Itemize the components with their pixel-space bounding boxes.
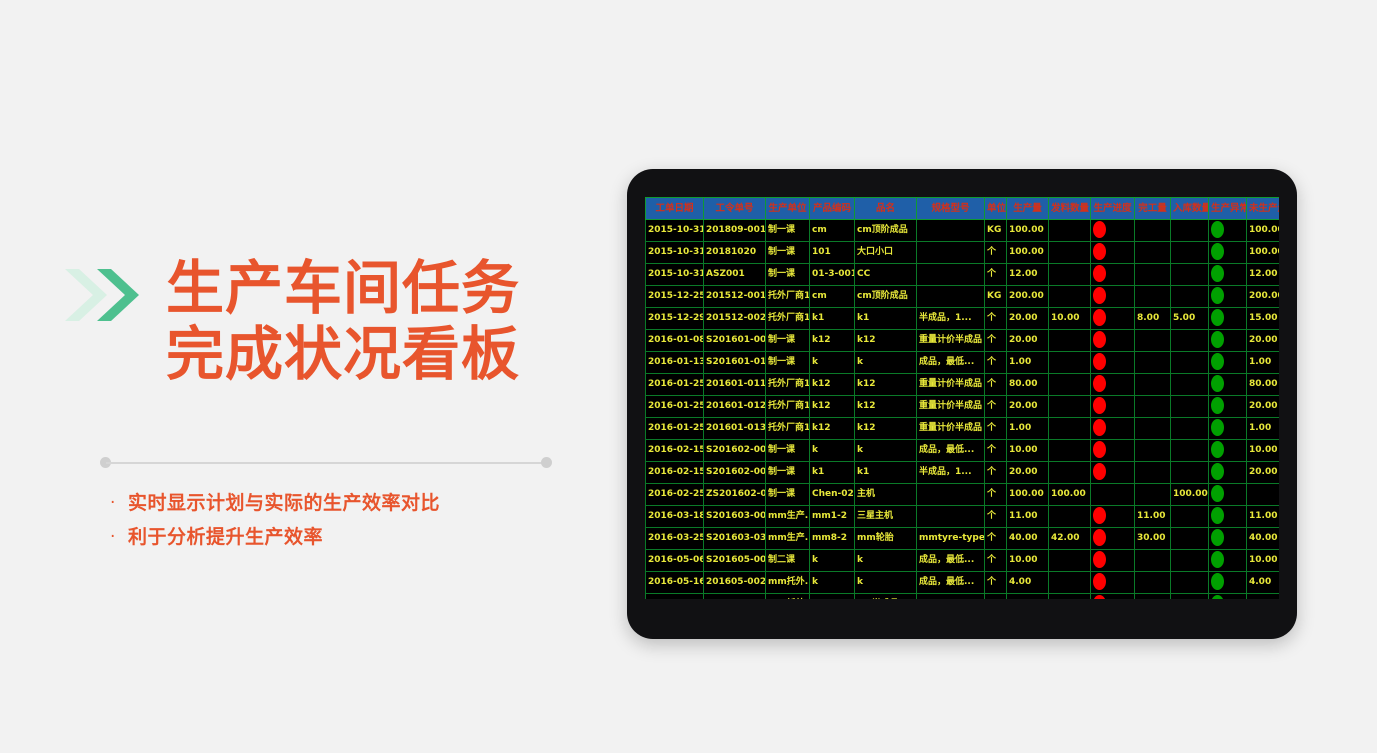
- abnormal-green-indicator-icon: [1211, 331, 1224, 348]
- cell-unit: 托外厂商1: [766, 396, 810, 418]
- cell-material: 100.00: [1049, 484, 1091, 506]
- cell-code: k12: [810, 396, 855, 418]
- table-row[interactable]: 2015-12-25201512-001托外厂商1cmcm顶阶成品KG200.0…: [646, 286, 1280, 308]
- table-row[interactable]: 2016-02-15S201602-007制一课k1k1半成品，1...个20.…: [646, 462, 1280, 484]
- progress-red-indicator-icon: [1093, 529, 1106, 546]
- abnormal-green-indicator-icon: [1211, 265, 1224, 282]
- table-row[interactable]: 2016-01-13S201601-011制一课kk成品，最低...个1.001…: [646, 352, 1280, 374]
- cell-material: [1049, 594, 1091, 600]
- cell-spec: 重量计价半成品: [917, 396, 985, 418]
- cell-order: S201603-037: [704, 528, 766, 550]
- column-header-2[interactable]: 生产单位: [766, 198, 810, 220]
- cell-unmade: 1.00: [1247, 352, 1280, 374]
- cell-date: 2016-01-25: [646, 396, 704, 418]
- cell-stock: [1171, 264, 1209, 286]
- table-row[interactable]: 2016-03-18S201603-006mm生产...mm1-2三星主机个11…: [646, 506, 1280, 528]
- abnormal-green-indicator-icon: [1211, 551, 1224, 568]
- cell-unit: mm生产...: [766, 506, 810, 528]
- cell-abnormal: [1209, 594, 1247, 600]
- table-row[interactable]: 2016-01-25201601-011托外厂商1k12k12重量计价半成品个8…: [646, 374, 1280, 396]
- bullet-marker-icon: ·: [110, 490, 128, 516]
- cell-uom: 个: [985, 308, 1007, 330]
- cell-material: [1049, 242, 1091, 264]
- table-row[interactable]: 2016-01-08S201601-008制一课k12k12重量计价半成品个20…: [646, 330, 1280, 352]
- cell-abnormal: [1209, 242, 1247, 264]
- cell-uom: 个: [985, 462, 1007, 484]
- cell-name: 三星主机: [855, 506, 917, 528]
- column-header-3[interactable]: 产品编码: [810, 198, 855, 220]
- cell-material: [1049, 506, 1091, 528]
- cell-uom: 个: [985, 528, 1007, 550]
- cell-abnormal: [1209, 308, 1247, 330]
- table-row[interactable]: 2016-02-25ZS201602-004制一课Chen-02主机个100.0…: [646, 484, 1280, 506]
- cell-qty: 12.00: [1007, 264, 1049, 286]
- progress-red-indicator-icon: [1093, 287, 1106, 304]
- cell-name: CC: [855, 264, 917, 286]
- cell-uom: 个: [985, 264, 1007, 286]
- abnormal-green-indicator-icon: [1211, 441, 1224, 458]
- cell-order: 201601-012: [704, 396, 766, 418]
- cell-order: S201602-007: [704, 462, 766, 484]
- production-task-table: 工单日期工令单号生产单位产品编码品名规格型号单位生产量发料数量生产进度完工量入库…: [645, 197, 1279, 599]
- cell-spec: [917, 506, 985, 528]
- cell-done: [1135, 484, 1171, 506]
- progress-red-indicator-icon: [1093, 397, 1106, 414]
- cell-qty: 80.00: [1007, 374, 1049, 396]
- cell-done: [1135, 594, 1171, 600]
- cell-abnormal: [1209, 528, 1247, 550]
- cell-abnormal: [1209, 418, 1247, 440]
- cell-material: [1049, 462, 1091, 484]
- abnormal-green-indicator-icon: [1211, 463, 1224, 480]
- cell-spec: [917, 484, 985, 506]
- cell-progress: [1091, 396, 1135, 418]
- cell-name: cm顶阶成品: [855, 286, 917, 308]
- cell-name: k1: [855, 308, 917, 330]
- cell-uom: 个: [985, 572, 1007, 594]
- bullet-text: 利于分析提升生产效率: [128, 524, 323, 550]
- cell-date: 2015-10-31: [646, 242, 704, 264]
- progress-red-indicator-icon: [1093, 221, 1106, 238]
- cell-spec: 成品，最低...: [917, 550, 985, 572]
- cell-stock: [1171, 242, 1209, 264]
- cell-done: [1135, 418, 1171, 440]
- cell-done: [1135, 374, 1171, 396]
- column-header-12[interactable]: 生产异常: [1209, 198, 1247, 220]
- cell-code: 101: [810, 242, 855, 264]
- cell-order: S201602-006: [704, 440, 766, 462]
- cell-stock: [1171, 594, 1209, 600]
- cell-spec: 重量计价半成品: [917, 374, 985, 396]
- cell-material: [1049, 440, 1091, 462]
- cell-date: 2015-12-25: [646, 286, 704, 308]
- cell-material: [1049, 352, 1091, 374]
- abnormal-green-indicator-icon: [1211, 309, 1224, 326]
- cell-qty: 20.00: [1007, 308, 1049, 330]
- table-row[interactable]: 2015-10-31201809-001制一课cmcm顶阶成品KG100.001…: [646, 220, 1280, 242]
- cell-code: k1: [810, 462, 855, 484]
- cell-progress: [1091, 462, 1135, 484]
- cell-progress: [1091, 264, 1135, 286]
- cell-unmade: 20.00: [1247, 396, 1280, 418]
- cell-progress: [1091, 440, 1135, 462]
- cell-qty: 20.00: [1007, 396, 1049, 418]
- cell-done: 11.00: [1135, 506, 1171, 528]
- abnormal-green-indicator-icon: [1211, 573, 1224, 590]
- cell-code: mm1-2: [810, 506, 855, 528]
- cell-name: mm轮胎: [855, 528, 917, 550]
- cell-uom: KG: [985, 594, 1007, 600]
- cell-uom: KG: [985, 220, 1007, 242]
- column-header-1[interactable]: 工令单号: [704, 198, 766, 220]
- cell-stock: [1171, 286, 1209, 308]
- cell-qty: 20.00: [1007, 462, 1049, 484]
- cell-done: [1135, 242, 1171, 264]
- tablet-screen: 工单日期工令单号生产单位产品编码品名规格型号单位生产量发料数量生产进度完工量入库…: [645, 197, 1279, 599]
- column-header-10[interactable]: 完工量: [1135, 198, 1171, 220]
- cell-order: 201601-011: [704, 374, 766, 396]
- cell-spec: 半成品，1...: [917, 308, 985, 330]
- progress-red-indicator-icon: [1093, 419, 1106, 436]
- progress-red-indicator-icon: [1093, 441, 1106, 458]
- cell-unit: 制一课: [766, 462, 810, 484]
- cell-progress: [1091, 286, 1135, 308]
- cell-date: 2016-01-13: [646, 352, 704, 374]
- cell-date: 2016-02-25: [646, 484, 704, 506]
- cell-stock: [1171, 550, 1209, 572]
- cell-stock: [1171, 506, 1209, 528]
- cell-spec: [917, 286, 985, 308]
- cell-name: k: [855, 440, 917, 462]
- cell-done: 30.00: [1135, 528, 1171, 550]
- cell-unit: mm托外...: [766, 572, 810, 594]
- cell-done: [1135, 462, 1171, 484]
- double-chevron-icon: [63, 266, 155, 324]
- cell-stock: 5.00: [1171, 308, 1209, 330]
- cell-code: 01-3-001: [810, 264, 855, 286]
- column-header-9[interactable]: 生产进度: [1091, 198, 1135, 220]
- cell-qty: 200.00: [1007, 286, 1049, 308]
- cell-unmade: 80.00: [1247, 374, 1280, 396]
- tablet-device-frame: 工单日期工令单号生产单位产品编码品名规格型号单位生产量发料数量生产进度完工量入库…: [627, 169, 1297, 639]
- cell-qty: 10.00: [1007, 440, 1049, 462]
- abnormal-green-indicator-icon: [1211, 397, 1224, 414]
- cell-abnormal: [1209, 550, 1247, 572]
- cell-qty: 40.00: [1007, 528, 1049, 550]
- cell-qty: 100.00: [1007, 484, 1049, 506]
- cell-unit: 托外厂商1: [766, 308, 810, 330]
- cell-uom: 个: [985, 484, 1007, 506]
- cell-stock: [1171, 220, 1209, 242]
- cell-qty: 1.00: [1007, 418, 1049, 440]
- cell-order: 201601-013: [704, 418, 766, 440]
- cell-stock: [1171, 330, 1209, 352]
- cell-stock: [1171, 396, 1209, 418]
- cell-done: [1135, 396, 1171, 418]
- table-row[interactable]: 2016-05-16201605-002mm托外...kk成品，最低...个4.…: [646, 572, 1280, 594]
- cell-name: k12: [855, 330, 917, 352]
- abnormal-green-indicator-icon: [1211, 221, 1224, 238]
- cell-stock: [1171, 374, 1209, 396]
- cell-done: [1135, 440, 1171, 462]
- cell-abnormal: [1209, 462, 1247, 484]
- cell-abnormal: [1209, 572, 1247, 594]
- chevron-right-icon-dark: [95, 266, 141, 324]
- cell-spec: 成品，最低...: [917, 352, 985, 374]
- cell-code: cm: [810, 220, 855, 242]
- cell-unit: 托外厂商1: [766, 286, 810, 308]
- page-title: 生产车间任务 完成状况看板: [166, 255, 606, 387]
- abnormal-green-indicator-icon: [1211, 375, 1224, 392]
- cell-date: 2016-02-15: [646, 462, 704, 484]
- column-header-0[interactable]: 工单日期: [646, 198, 704, 220]
- cell-order: 20181020: [704, 242, 766, 264]
- cell-date: 2016-01-25: [646, 374, 704, 396]
- cell-uom: 个: [985, 440, 1007, 462]
- cell-abnormal: [1209, 484, 1247, 506]
- cell-abnormal: [1209, 220, 1247, 242]
- cell-unmade: 10.00: [1247, 440, 1280, 462]
- cell-progress: [1091, 242, 1135, 264]
- cell-name: 主机: [855, 484, 917, 506]
- cell-unit: 制一课: [766, 352, 810, 374]
- cell-code: k: [810, 440, 855, 462]
- cell-qty: 100.00: [1007, 242, 1049, 264]
- cell-abnormal: [1209, 286, 1247, 308]
- cell-unit: mm生产...: [766, 528, 810, 550]
- cell-material: [1049, 220, 1091, 242]
- cell-order: 201809-001: [704, 220, 766, 242]
- table-row[interactable]: 2016-05-19201605-003mm托外...cm-02cm半成品...…: [646, 594, 1280, 600]
- cell-unit: 制一课: [766, 220, 810, 242]
- cell-order: 201605-002: [704, 572, 766, 594]
- cell-stock: [1171, 418, 1209, 440]
- cell-unmade: 10.00: [1247, 550, 1280, 572]
- table-row[interactable]: 2016-01-25201601-013托外厂商1k12k12重量计价半成品个1…: [646, 418, 1280, 440]
- cell-code: k: [810, 550, 855, 572]
- cell-abnormal: [1209, 440, 1247, 462]
- cell-unit: 制一课: [766, 330, 810, 352]
- cell-qty: 100.00: [1007, 220, 1049, 242]
- abnormal-green-indicator-icon: [1211, 595, 1224, 599]
- cell-code: Chen-02: [810, 484, 855, 506]
- cell-code: k12: [810, 374, 855, 396]
- cell-name: cm半成品...: [855, 594, 917, 600]
- cell-spec: 半成品，1...: [917, 462, 985, 484]
- cell-done: [1135, 264, 1171, 286]
- cell-date: 2015-10-31: [646, 264, 704, 286]
- cell-abnormal: [1209, 374, 1247, 396]
- cell-code: k12: [810, 330, 855, 352]
- cell-stock: 100.00: [1171, 484, 1209, 506]
- cell-unit: 制一课: [766, 264, 810, 286]
- bullet-list: · 实时显示计划与实际的生产效率对比 · 利于分析提升生产效率: [110, 490, 610, 558]
- progress-red-indicator-icon: [1093, 463, 1106, 480]
- progress-red-indicator-icon: [1093, 309, 1106, 326]
- cell-uom: 个: [985, 352, 1007, 374]
- abnormal-green-indicator-icon: [1211, 419, 1224, 436]
- cell-progress: [1091, 550, 1135, 572]
- progress-red-indicator-icon: [1093, 507, 1106, 524]
- cell-progress: [1091, 374, 1135, 396]
- cell-name: k12: [855, 374, 917, 396]
- cell-abnormal: [1209, 396, 1247, 418]
- cell-code: cm-02: [810, 594, 855, 600]
- cell-spec: 重量计价半成品: [917, 418, 985, 440]
- column-header-13[interactable]: 未生产量: [1247, 198, 1280, 220]
- table-row[interactable]: 2015-10-3120181020制一课101大口小口个100.00100.0…: [646, 242, 1280, 264]
- cell-unit: 制一课: [766, 440, 810, 462]
- cell-unmade: 1.00: [1247, 418, 1280, 440]
- progress-red-indicator-icon: [1093, 353, 1106, 370]
- cell-name: k12: [855, 418, 917, 440]
- progress-red-indicator-icon: [1093, 243, 1106, 260]
- abnormal-green-indicator-icon: [1211, 243, 1224, 260]
- divider: [100, 455, 552, 471]
- column-header-7[interactable]: 生产量: [1007, 198, 1049, 220]
- abnormal-green-indicator-icon: [1211, 287, 1224, 304]
- table-row[interactable]: 2015-10-31ASZ001制一课01-3-001CC个12.0012.00…: [646, 264, 1280, 286]
- cell-spec: mmtyre-type: [917, 528, 985, 550]
- cell-done: 8.00: [1135, 308, 1171, 330]
- divider-dot-right: [541, 457, 552, 468]
- cell-uom: KG: [985, 286, 1007, 308]
- cell-order: S201605-008: [704, 550, 766, 572]
- cell-uom: 个: [985, 374, 1007, 396]
- cell-name: k12: [855, 396, 917, 418]
- cell-unmade: 100.00: [1247, 220, 1280, 242]
- cell-uom: 个: [985, 550, 1007, 572]
- table-row[interactable]: 2016-03-25S201603-037mm生产...mm8-2mm轮胎mmt…: [646, 528, 1280, 550]
- bullet-marker-icon: ·: [110, 524, 128, 550]
- cell-unit: 制二课: [766, 550, 810, 572]
- abnormal-green-indicator-icon: [1211, 353, 1224, 370]
- cell-uom: 个: [985, 396, 1007, 418]
- cell-stock: [1171, 440, 1209, 462]
- cell-progress: [1091, 418, 1135, 440]
- table-row[interactable]: 2016-05-06S201605-008制二课kk成品，最低...个10.00…: [646, 550, 1280, 572]
- cell-unmade: 20.00: [1247, 462, 1280, 484]
- cell-name: k: [855, 550, 917, 572]
- cell-stock: [1171, 572, 1209, 594]
- cell-unit: 制一课: [766, 242, 810, 264]
- table-row[interactable]: 2016-02-15S201602-006制一课kk成品，最低...个10.00…: [646, 440, 1280, 462]
- left-content-panel: 生产车间任务 完成状况看板 · 实时显示计划与实际的生产效率对比 · 利于分析提…: [0, 0, 620, 753]
- cell-qty: 11.00: [1007, 506, 1049, 528]
- cell-progress: [1091, 308, 1135, 330]
- cell-uom: 个: [985, 242, 1007, 264]
- cell-date: 2015-10-31: [646, 220, 704, 242]
- progress-red-indicator-icon: [1093, 375, 1106, 392]
- cell-spec: [917, 264, 985, 286]
- cell-progress: [1091, 330, 1135, 352]
- cell-unmade: 4.00: [1247, 572, 1280, 594]
- cell-code: cm: [810, 286, 855, 308]
- cell-material: [1049, 418, 1091, 440]
- cell-done: [1135, 550, 1171, 572]
- column-header-6[interactable]: 单位: [985, 198, 1007, 220]
- cell-progress: [1091, 484, 1135, 506]
- cell-date: 2016-01-08: [646, 330, 704, 352]
- cell-material: [1049, 396, 1091, 418]
- cell-date: 2016-05-16: [646, 572, 704, 594]
- cell-unmade: 20.00: [1247, 330, 1280, 352]
- divider-line: [106, 462, 546, 464]
- cell-stock: [1171, 352, 1209, 374]
- cell-order: 201605-003: [704, 594, 766, 600]
- cell-order: S201603-006: [704, 506, 766, 528]
- cell-name: cm顶阶成品: [855, 220, 917, 242]
- cell-qty: 3.00: [1007, 594, 1049, 600]
- cell-abnormal: [1209, 506, 1247, 528]
- cell-unmade: 12.00: [1247, 264, 1280, 286]
- cell-material: [1049, 286, 1091, 308]
- cell-qty: 1.00: [1007, 352, 1049, 374]
- cell-done: [1135, 220, 1171, 242]
- cell-uom: 个: [985, 330, 1007, 352]
- cell-spec: 重量计价半成品: [917, 330, 985, 352]
- cell-code: k: [810, 352, 855, 374]
- bullet-text: 实时显示计划与实际的生产效率对比: [128, 490, 440, 516]
- column-header-11[interactable]: 入库数量: [1171, 198, 1209, 220]
- abnormal-green-indicator-icon: [1211, 507, 1224, 524]
- cell-qty: 10.00: [1007, 550, 1049, 572]
- cell-progress: [1091, 572, 1135, 594]
- cell-spec: 成品，最低...: [917, 440, 985, 462]
- cell-spec: [917, 220, 985, 242]
- cell-spec: [917, 594, 985, 600]
- table-header-row: 工单日期工令单号生产单位产品编码品名规格型号单位生产量发料数量生产进度完工量入库…: [646, 198, 1280, 220]
- cell-spec: 成品，最低...: [917, 572, 985, 594]
- table-header: 工单日期工令单号生产单位产品编码品名规格型号单位生产量发料数量生产进度完工量入库…: [646, 198, 1280, 220]
- cell-name: k: [855, 572, 917, 594]
- cell-abnormal: [1209, 330, 1247, 352]
- cell-unit: 制一课: [766, 484, 810, 506]
- column-header-4[interactable]: 品名: [855, 198, 917, 220]
- table-row[interactable]: 2016-01-25201601-012托外厂商1k12k12重量计价半成品个2…: [646, 396, 1280, 418]
- cell-unmade: 40.00: [1247, 528, 1280, 550]
- cell-progress: [1091, 352, 1135, 374]
- cell-abnormal: [1209, 264, 1247, 286]
- column-header-5[interactable]: 规格型号: [917, 198, 985, 220]
- cell-date: 2016-02-15: [646, 440, 704, 462]
- list-item: · 实时显示计划与实际的生产效率对比: [110, 490, 610, 516]
- cell-order: ASZ001: [704, 264, 766, 286]
- cell-code: k12: [810, 418, 855, 440]
- page-title-line-2: 完成状况看板: [166, 321, 606, 387]
- cell-code: mm8-2: [810, 528, 855, 550]
- cell-uom: 个: [985, 506, 1007, 528]
- cell-date: 2016-01-25: [646, 418, 704, 440]
- cell-abnormal: [1209, 352, 1247, 374]
- cell-order: S201601-011: [704, 352, 766, 374]
- cell-unmade: 11.00: [1247, 506, 1280, 528]
- cell-date: 2016-03-18: [646, 506, 704, 528]
- cell-material: [1049, 550, 1091, 572]
- cell-order: S201601-008: [704, 330, 766, 352]
- cell-name: k: [855, 352, 917, 374]
- cell-unmade: 100.00: [1247, 242, 1280, 264]
- cell-material: [1049, 330, 1091, 352]
- cell-material: [1049, 572, 1091, 594]
- cell-spec: [917, 242, 985, 264]
- cell-unmade: [1247, 484, 1280, 506]
- cell-stock: [1171, 528, 1209, 550]
- cell-order: 201512-002: [704, 308, 766, 330]
- column-header-8[interactable]: 发料数量: [1049, 198, 1091, 220]
- table-row[interactable]: 2015-12-29201512-002托外厂商1k1k1半成品，1...个20…: [646, 308, 1280, 330]
- cell-progress: [1091, 528, 1135, 550]
